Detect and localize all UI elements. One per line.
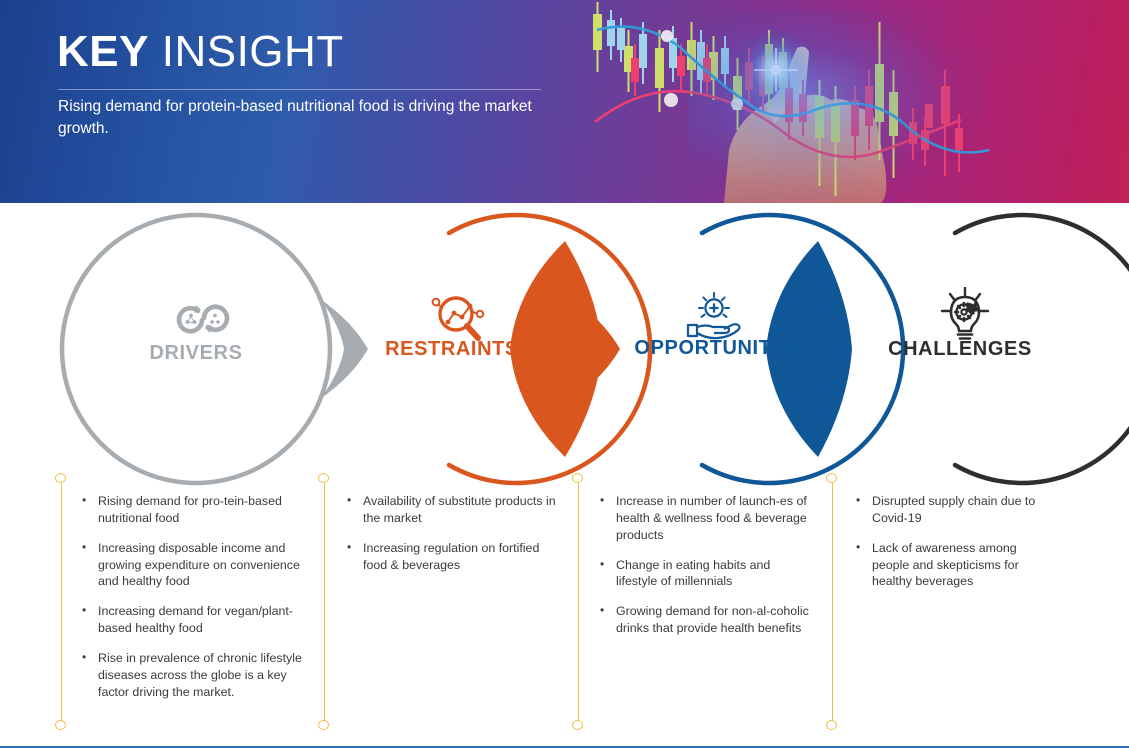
page-title-bold: KEY — [57, 27, 149, 76]
bullet-column-drivers: Rising demand for pro-tein-based nutriti… — [80, 493, 302, 714]
list-item: Increase in number of launch-es of healt… — [598, 493, 813, 544]
list-item: Rise in prevalence of chronic lifestyle … — [80, 650, 302, 701]
list-item: Growing demand for non-al-coholic drinks… — [598, 603, 813, 637]
divider-3 — [572, 473, 584, 730]
page-subtitle: Rising demand for protein-based nutritio… — [58, 96, 558, 140]
divider-line — [324, 478, 325, 725]
page-title: KEY INSIGHT — [57, 30, 344, 74]
page-title-light: INSIGHT — [162, 27, 344, 76]
divider-cap-bottom — [826, 720, 837, 730]
bullet-list-opportunities: Increase in number of launch-es of healt… — [598, 493, 813, 637]
list-item: Increasing demand for vegan/plant-based … — [80, 603, 302, 637]
divider-1 — [55, 473, 67, 730]
bullet-column-opportunities: Increase in number of launch-es of healt… — [598, 493, 813, 650]
divider-2 — [318, 473, 330, 730]
infographic-page: KEY INSIGHT Rising demand for protein-ba… — [0, 0, 1129, 748]
list-item: Rising demand for pro-tein-based nutriti… — [80, 493, 302, 527]
divider-cap-bottom — [318, 720, 329, 730]
divider-line — [61, 478, 62, 725]
divider-cap-top — [318, 473, 329, 483]
bullet-list-restraints: Availability of substitute products in t… — [345, 493, 565, 573]
divider-line — [578, 478, 579, 725]
list-item: Increasing regulation on fortified food … — [345, 540, 565, 574]
bullet-list-challenges: Disrupted supply chain due to Covid-19 L… — [854, 493, 1054, 590]
stage-label-restraints[interactable]: RESTRAINTS — [348, 338, 556, 361]
stage-label-opportunities[interactable]: OPPORTUNITIES — [592, 337, 848, 360]
divider-cap-top — [572, 473, 583, 483]
divider-line — [832, 478, 833, 725]
stage-label-drivers[interactable]: DRIVERS — [96, 342, 296, 365]
header-banner: KEY INSIGHT Rising demand for protein-ba… — [0, 0, 1129, 203]
bullet-column-challenges: Disrupted supply chain due to Covid-19 L… — [854, 493, 1054, 603]
divider-cap-top — [55, 473, 66, 483]
list-item: Change in eating habits and lifestyle of… — [598, 557, 813, 591]
header-artwork — [569, 0, 1129, 203]
list-item: Increasing disposable income and growing… — [80, 540, 302, 591]
stock-chart-artwork-svg — [569, 0, 1129, 203]
divider-4 — [826, 473, 838, 730]
divider-cap-bottom — [572, 720, 583, 730]
bullet-list-drivers: Rising demand for pro-tein-based nutriti… — [80, 493, 302, 701]
sync-arrows-icon — [172, 300, 234, 343]
stage-label-challenges[interactable]: CHALLENGES — [862, 338, 1058, 361]
divider-cap-bottom — [55, 720, 66, 730]
list-item: Disrupted supply chain due to Covid-19 — [854, 493, 1054, 527]
list-item: Lack of awareness among people and skept… — [854, 540, 1054, 591]
divider-cap-top — [826, 473, 837, 483]
title-underline — [58, 89, 541, 90]
list-item: Availability of substitute products in t… — [345, 493, 565, 527]
bullet-column-restraints: Availability of substitute products in t… — [345, 493, 565, 586]
